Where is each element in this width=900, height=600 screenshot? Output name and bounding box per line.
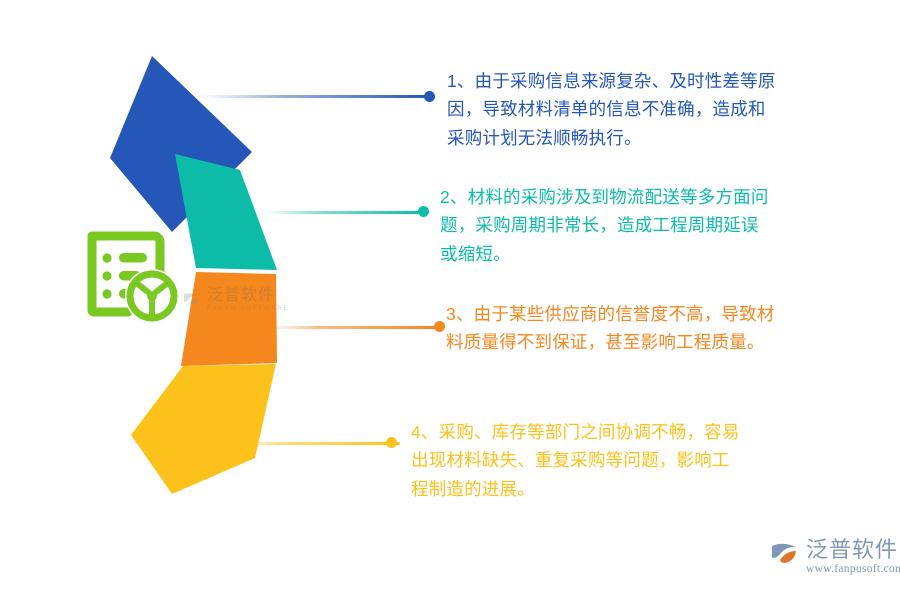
item-text-3: 3、由于某些供应商的信誉度不高，导致材料质量得不到保证，甚至影响工程质量。 [446,300,776,357]
item-text-4: 4、采购、库存等部门之间协调不畅，容易出现材料缺失、重复采购等问题，影响工程制造… [411,418,741,503]
connector-line-yellow [232,442,400,445]
ribbon-segment-yellow [131,364,276,494]
brand-logo: 泛普软件 www.fanpusoft.com [770,538,900,575]
brand-logo-cn: 泛普软件 [806,538,900,561]
brand-logo-icon [770,538,800,568]
item-text-2: 2、材料的采购涉及到物流配送等多方面问题，采购周期非常长，造成工程周期延误或缩短… [440,183,770,268]
item-text-1: 1、由于采购信息来源复杂、及时性差等原因，导致材料清单的信息不准确，造成和采购计… [447,67,777,152]
brand-logo-url: www.fanpusoft.com [806,563,900,575]
connector-dot-blue [424,91,435,102]
ribbon-segment-teal [175,154,277,270]
ribbon-segment-orange [181,272,277,366]
infographic-canvas: 泛普软件 FANPU SOFTWARE 1、由于采购信息来源复杂、及时性差等原因… [0,0,900,600]
document-checklist-steering-wheel-icon [78,222,182,326]
connector-line-blue [200,95,428,98]
connector-dot-yellow [386,437,397,448]
connector-dot-orange [434,321,445,332]
connector-line-orange [268,326,438,329]
connector-dot-teal [418,206,429,217]
connector-line-teal [264,211,422,214]
